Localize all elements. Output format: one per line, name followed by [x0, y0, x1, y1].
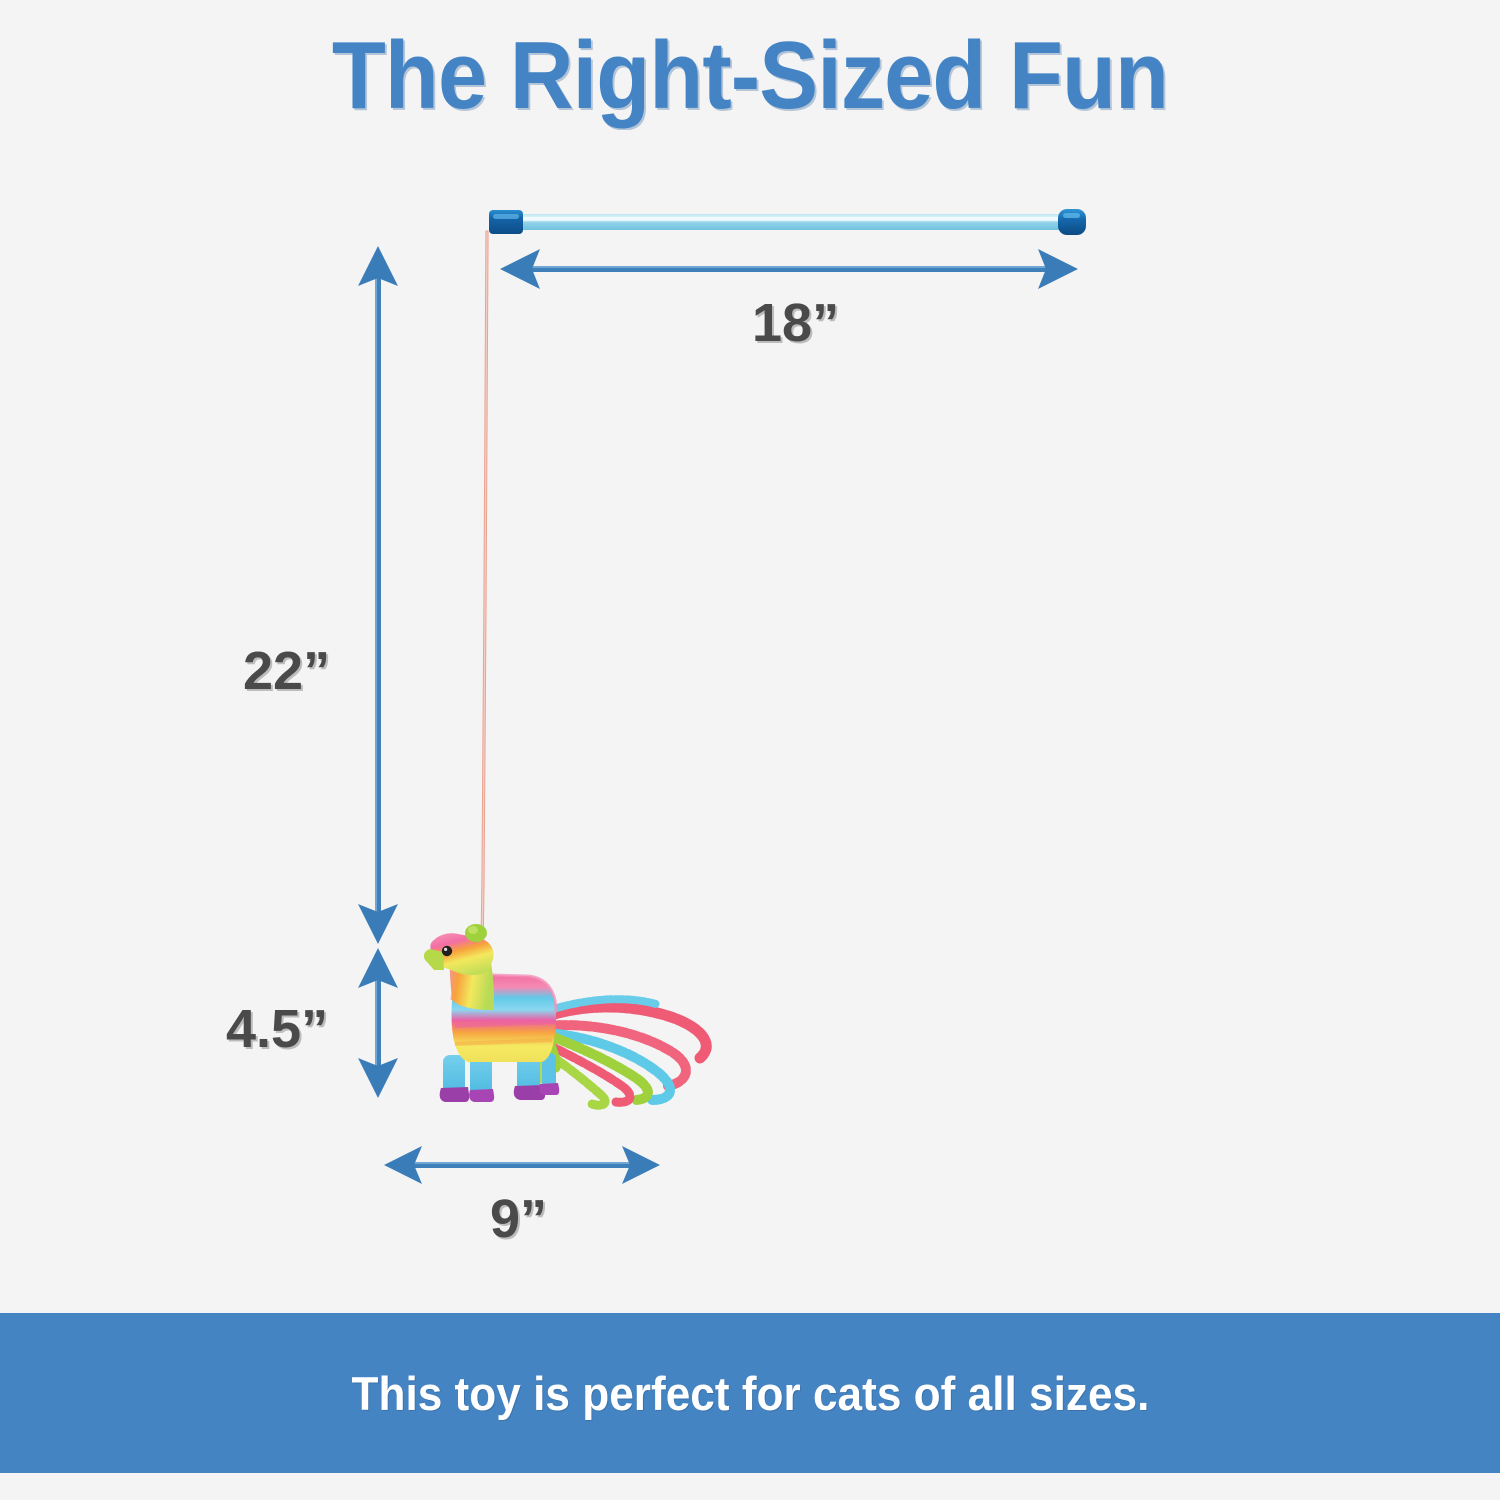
wand-cord-icon [482, 232, 487, 952]
plush-ear-pom [465, 924, 487, 942]
plush-neck [450, 944, 494, 1010]
plush-muzzle [424, 949, 444, 970]
dimension-arrows [358, 246, 1078, 1184]
plush-head [424, 924, 494, 975]
product-illustration [0, 0, 1500, 1500]
plush-tail-streamers [533, 999, 706, 1105]
dimension-label-9in: 9” [490, 1188, 547, 1250]
plush-legs [440, 1053, 560, 1102]
dimension-arrow-18in [500, 249, 1078, 289]
dimension-arrow-45in [358, 948, 398, 1098]
dimension-arrow-22in [358, 246, 398, 944]
bottom-banner: This toy is perfect for cats of all size… [0, 1313, 1500, 1473]
hoof-front-right [469, 1089, 494, 1102]
dimension-label-22in: 22” [243, 640, 330, 702]
hoof-back-right [540, 1083, 560, 1095]
plush-eye [442, 946, 452, 956]
hoof-back-left [514, 1085, 545, 1100]
wand-rod-icon [512, 214, 1064, 230]
hoof-front-left [440, 1087, 470, 1102]
infographic-canvas: The Right-Sized Fun [0, 0, 1500, 1500]
banner-text: This toy is perfect for cats of all size… [351, 1366, 1149, 1421]
wand-right-cap-icon [1058, 209, 1086, 235]
plush-llama-pinata-icon [424, 924, 706, 1105]
dimension-label-4-5in: 4.5” [226, 998, 328, 1060]
page-title: The Right-Sized Fun [60, 22, 1440, 130]
wand-left-cap-icon [489, 210, 523, 234]
dimension-arrow-9in [384, 1146, 660, 1184]
plush-body [452, 975, 556, 1062]
dimension-label-18in: 18” [752, 292, 839, 354]
